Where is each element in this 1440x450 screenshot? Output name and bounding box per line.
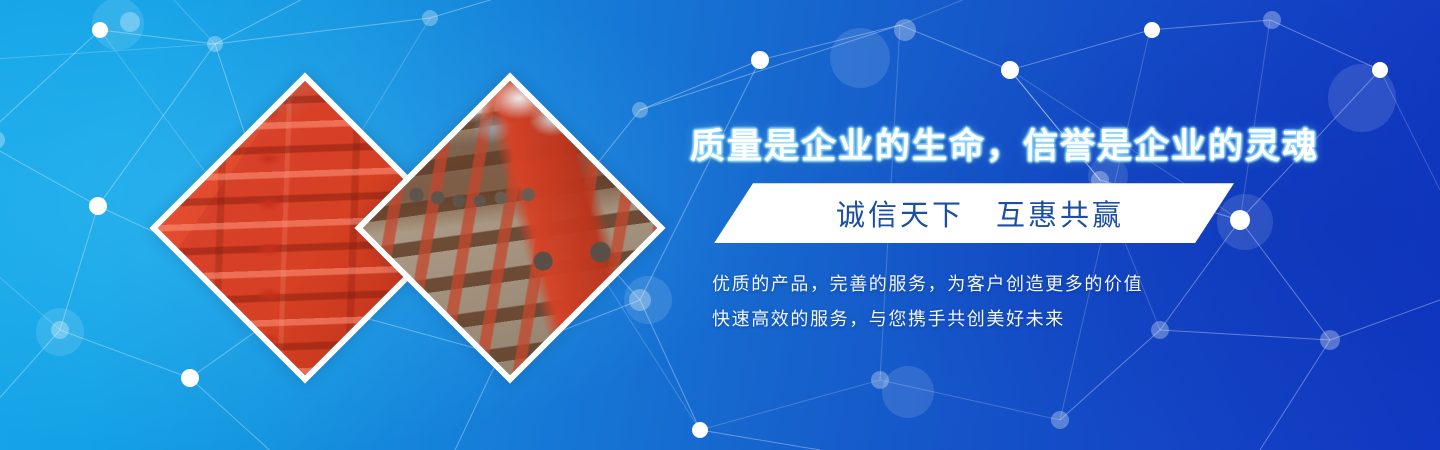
subtitle-ribbon: 诚信天下 互惠共赢 bbox=[714, 183, 1234, 243]
promotional-banner: 质量是企业的生命，信誉是企业的灵魂 诚信天下 互惠共赢 优质的产品，完善的服务，… bbox=[0, 0, 1440, 450]
banner-body-text: 优质的产品，完善的服务，为客户创造更多的价值 快速高效的服务，与您携手共创美好未… bbox=[712, 267, 1310, 337]
subtitle-text: 诚信天下 互惠共赢 bbox=[836, 192, 1124, 234]
banner-text-block: 质量是企业的生命，信誉是企业的灵魂 诚信天下 互惠共赢 优质的产品，完善的服务，… bbox=[690, 126, 1310, 337]
banner-headline: 质量是企业的生命，信誉是企业的灵魂 bbox=[690, 126, 1310, 167]
banner-body-line-2: 快速高效的服务，与您携手共创美好未来 bbox=[712, 302, 1310, 337]
banner-body-line-1: 优质的产品，完善的服务，为客户创造更多的价值 bbox=[712, 267, 1310, 302]
